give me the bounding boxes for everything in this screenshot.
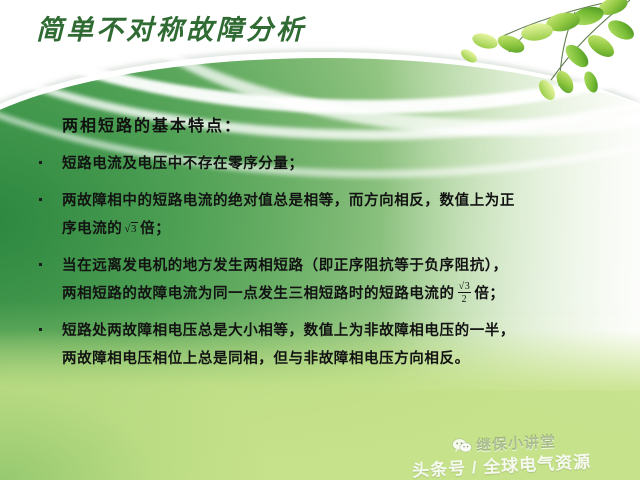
page-title: 简单不对称故障分析 <box>36 8 306 47</box>
bullet-line: 两故障相中的短路电流的绝对值总是相等，而方向相反，数值上为正 <box>62 187 640 215</box>
bullet-dot-icon <box>39 198 42 201</box>
section-heading: 两相短路的基本特点： <box>62 112 640 136</box>
sqrt-radicand: 3 <box>131 222 138 235</box>
list-item: 短路处两故障相电压总是大小相等，数值上为非故障相电压的一半， 两故障相电压相位上… <box>0 317 640 373</box>
bullet-line: 序电流的√3倍； <box>62 215 640 243</box>
fraction-denominator: 2 <box>458 293 472 305</box>
bullet-dot-icon <box>39 263 42 266</box>
list-item: 短路电流及电压中不存在零序分量； <box>0 150 640 178</box>
slide-canvas: 简单不对称故障分析 两相短路的基本特点： 短路电流及电压中不存在零序分量； 两故… <box>0 0 640 480</box>
leaves-branch-icon <box>425 0 640 114</box>
list-item: 两故障相中的短路电流的绝对值总是相等，而方向相反，数值上为正 序电流的√3倍； <box>0 187 640 243</box>
bullet-line-before: 序电流的 <box>62 221 122 237</box>
bullet-dot-icon <box>39 328 42 331</box>
fraction-numerator: √3 <box>458 281 472 293</box>
fraction-sqrt3-over-2: √32 <box>455 281 475 305</box>
bullet-line: 两相短路的故障电流为同一点发生三相短路时的短路电流的√32倍； <box>62 280 640 308</box>
bullet-line: 两故障相电压相位上总是同相，但与非故障相电压方向相反。 <box>62 345 640 373</box>
list-item: 当在远离发电机的地方发生两相短路（即正序阻抗等于负序阻抗）， 两相短路的故障电流… <box>0 252 640 308</box>
wechat-icon <box>452 437 473 454</box>
bullet-line: 当在远离发电机的地方发生两相短路（即正序阻抗等于负序阻抗）， <box>62 252 640 280</box>
bullet-line: 短路电流及电压中不存在零序分量； <box>62 150 640 178</box>
bullet-line-after: 倍； <box>140 221 170 237</box>
bullet-line-after: 倍； <box>474 286 504 302</box>
bullet-line: 短路处两故障相电压总是大小相等，数值上为非故障相电压的一半， <box>62 317 640 345</box>
bullet-list: 短路电流及电压中不存在零序分量； 两故障相中的短路电流的绝对值总是相等，而方向相… <box>0 150 640 373</box>
sqrt-symbol-icon: √3 <box>122 215 140 243</box>
bullet-dot-icon <box>39 161 42 164</box>
slide-content: 两相短路的基本特点： 短路电流及电压中不存在零序分量； 两故障相中的短路电流的绝… <box>0 112 640 382</box>
bullet-line-before: 两相短路的故障电流为同一点发生三相短路时的短路电流的 <box>62 286 455 302</box>
